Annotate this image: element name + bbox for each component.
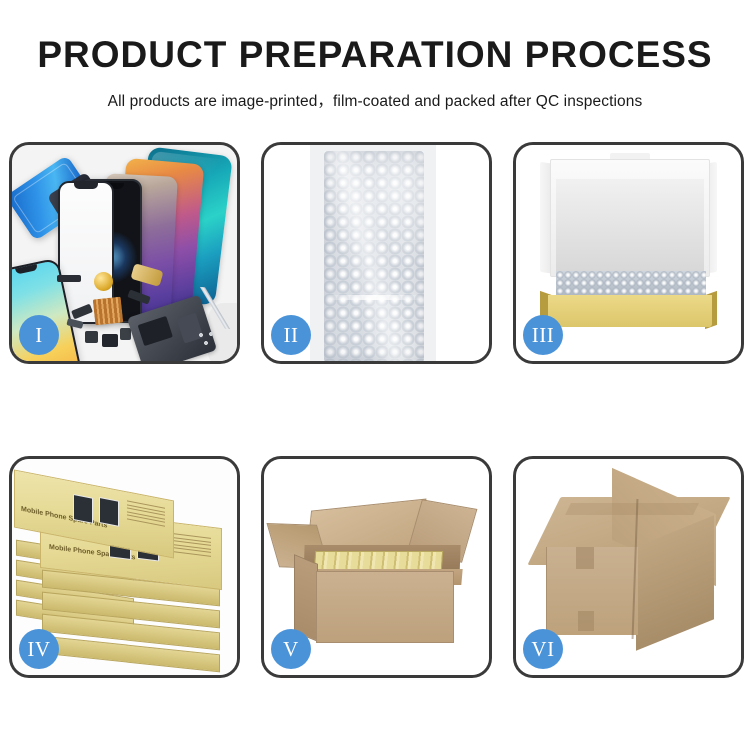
header: PRODUCT PREPARATION PROCESS All products… [0, 0, 750, 111]
step-panel-6: VI [513, 456, 744, 678]
steps-grid: I II III [9, 142, 743, 678]
bubble-wrap-sheet [324, 151, 424, 361]
step-panel-2: II [261, 142, 492, 364]
step-panel-1: I [9, 142, 240, 364]
step-badge-5: V [271, 629, 311, 669]
part-connector-c [120, 328, 131, 340]
product-preparation-infographic: PRODUCT PREPARATION PROCESS All products… [0, 0, 750, 750]
page-subtitle: All products are image-printed，film-coat… [0, 89, 750, 111]
step-badge-4: IV [19, 629, 59, 669]
part-wireless-coil [94, 272, 113, 291]
part-flex-cable-a [57, 275, 81, 282]
tweezers-icon [191, 286, 237, 329]
phone-notch-icon-2 [15, 264, 38, 274]
bubble-wrapped-items-in-box [556, 271, 706, 297]
box-inner-shadow [556, 179, 704, 275]
carton-left-face [294, 554, 318, 642]
step-badge-2: II [271, 315, 311, 355]
part-connector-b [102, 334, 118, 347]
carton-front-face [316, 571, 454, 643]
part-screws [198, 331, 220, 347]
step-panel-4: Mobile Phone Spare Parts Mobile Phone Sp… [9, 456, 240, 678]
step-badge-6: VI [523, 629, 563, 669]
part-connector-a [85, 331, 98, 343]
yellow-box-front [548, 295, 712, 327]
sealed-carton-tape-upper [576, 547, 594, 569]
retail-box-window-c [73, 494, 93, 524]
step-badge-1: I [19, 315, 59, 355]
step-badge-3: III [523, 315, 563, 355]
step-panel-3: III [513, 142, 744, 364]
bubble-wrap-seam [326, 295, 422, 300]
page-title: PRODUCT PREPARATION PROCESS [0, 36, 750, 73]
retail-box-window-d [99, 497, 119, 527]
step-panel-5: V [261, 456, 492, 678]
glass-notch-icon [74, 183, 98, 189]
sealed-carton-tape-lower [578, 611, 594, 631]
sealed-carton-top-seam [565, 503, 699, 515]
part-chip-array [93, 297, 124, 326]
